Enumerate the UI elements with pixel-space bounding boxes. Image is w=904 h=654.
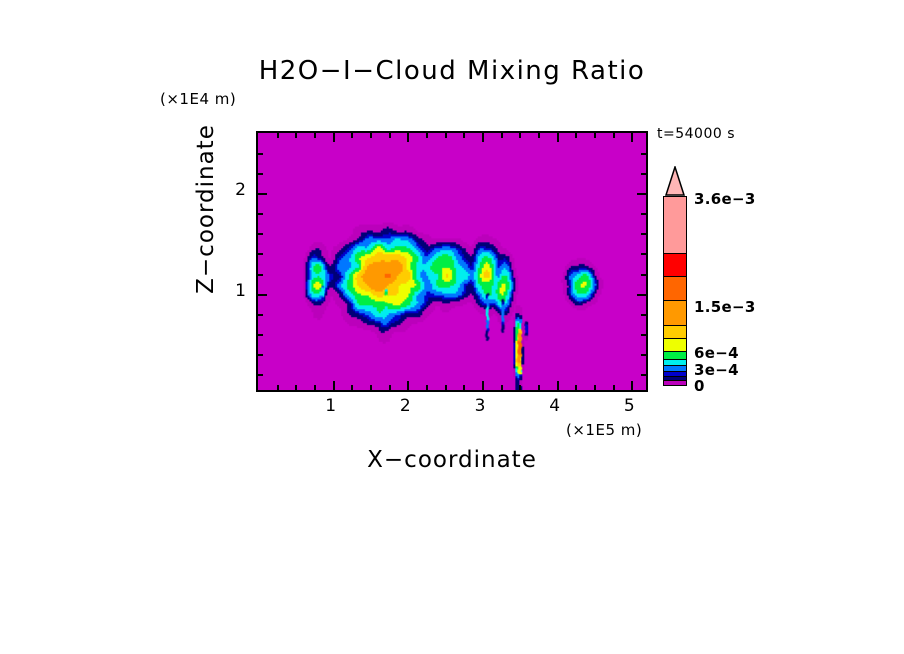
x-tick — [295, 385, 297, 390]
x-tick-label: 2 — [385, 396, 425, 416]
y-tick — [258, 374, 263, 376]
x-tick-top — [557, 133, 559, 142]
x-tick-top — [501, 133, 503, 138]
x-tick — [277, 385, 279, 390]
colorbar-band — [664, 254, 686, 278]
x-tick-top — [333, 133, 335, 142]
x-tick — [575, 385, 577, 390]
x-tick-top — [426, 133, 428, 138]
x-tick — [519, 385, 521, 390]
x-tick — [631, 381, 633, 390]
x-tick-label: 3 — [460, 396, 500, 416]
colorbar-band — [664, 339, 686, 352]
y-tick — [258, 213, 263, 215]
y-axis-title: Z−coordinate — [193, 0, 219, 419]
x-tick-top — [594, 133, 596, 138]
colorbar-tick-label: 1.5e−3 — [694, 298, 756, 316]
x-tick — [557, 381, 559, 390]
colorbar-tick-label: 3.6e−3 — [694, 190, 756, 208]
x-tick — [501, 385, 503, 390]
x-tick-top — [351, 133, 353, 138]
page-title: H2O−I−Cloud Mixing Ratio — [0, 56, 904, 86]
y-tick-right — [641, 274, 646, 276]
colorbar-band — [664, 301, 686, 326]
x-tick — [594, 385, 596, 390]
y-tick — [258, 334, 263, 336]
x-tick-top — [519, 133, 521, 138]
y-tick-right — [641, 334, 646, 336]
x-tick-top — [463, 133, 465, 138]
x-tick — [482, 381, 484, 390]
y-tick-right — [641, 233, 646, 235]
y-tick — [258, 173, 263, 175]
x-tick — [613, 385, 615, 390]
y-tick-right — [637, 193, 646, 195]
x-tick-top — [445, 133, 447, 138]
y-tick-right — [641, 153, 646, 155]
y-tick — [258, 314, 263, 316]
y-tick — [258, 253, 263, 255]
x-axis-title: X−coordinate — [256, 447, 648, 473]
y-tick-right — [641, 213, 646, 215]
x-tick-top — [277, 133, 279, 138]
timestamp-annotation: t=54000 s — [657, 126, 735, 142]
y-tick-right — [641, 253, 646, 255]
x-tick — [463, 385, 465, 390]
colorbar-tick-label: 6e−4 — [694, 344, 739, 362]
x-tick — [426, 385, 428, 390]
x-tick — [370, 385, 372, 390]
y-tick — [258, 274, 263, 276]
x-tick-label: 1 — [311, 396, 351, 416]
colorbar-band — [664, 277, 686, 301]
contour-field — [258, 133, 646, 390]
y-tick-right — [641, 354, 646, 356]
colorbar-bands — [663, 196, 687, 386]
colorbar-band — [664, 360, 686, 367]
x-tick — [314, 385, 316, 390]
colorbar-arrow-icon — [663, 166, 687, 196]
x-tick-top — [389, 133, 391, 138]
x-tick-top — [295, 133, 297, 138]
x-tick — [445, 385, 447, 390]
x-axis-unit-label: (×1E5 m) — [566, 421, 642, 439]
colorbar-band — [664, 326, 686, 339]
y-tick — [258, 354, 263, 356]
colorbar-band — [664, 352, 686, 360]
x-tick-top — [407, 133, 409, 142]
x-tick-top — [575, 133, 577, 138]
x-tick — [389, 385, 391, 390]
y-tick — [258, 294, 267, 296]
y-tick — [258, 153, 263, 155]
y-tick-right — [641, 314, 646, 316]
x-tick-top — [613, 133, 615, 138]
x-tick-top — [314, 133, 316, 138]
y-tick-right — [637, 294, 646, 296]
x-tick-label: 4 — [535, 396, 575, 416]
y-tick — [258, 193, 267, 195]
y-tick-right — [641, 173, 646, 175]
x-tick-top — [538, 133, 540, 138]
colorbar-band — [664, 381, 686, 385]
x-tick-label: 5 — [609, 396, 649, 416]
x-tick — [407, 381, 409, 390]
y-tick-label: 1 — [216, 281, 246, 301]
y-tick-label: 2 — [216, 180, 246, 200]
colorbar-tick-label: 0 — [694, 377, 705, 395]
x-tick-top — [631, 133, 633, 142]
x-tick — [538, 385, 540, 390]
x-tick-top — [482, 133, 484, 142]
y-tick-right — [641, 374, 646, 376]
x-tick-top — [370, 133, 372, 138]
x-tick — [351, 385, 353, 390]
colorbar-band — [664, 197, 686, 254]
y-tick — [258, 233, 263, 235]
figure-canvas: H2O−I−Cloud Mixing Ratio (×1E4 m) (×1E5 … — [0, 0, 904, 654]
x-tick — [333, 381, 335, 390]
colorbar — [663, 166, 687, 386]
plot-area — [256, 131, 648, 392]
